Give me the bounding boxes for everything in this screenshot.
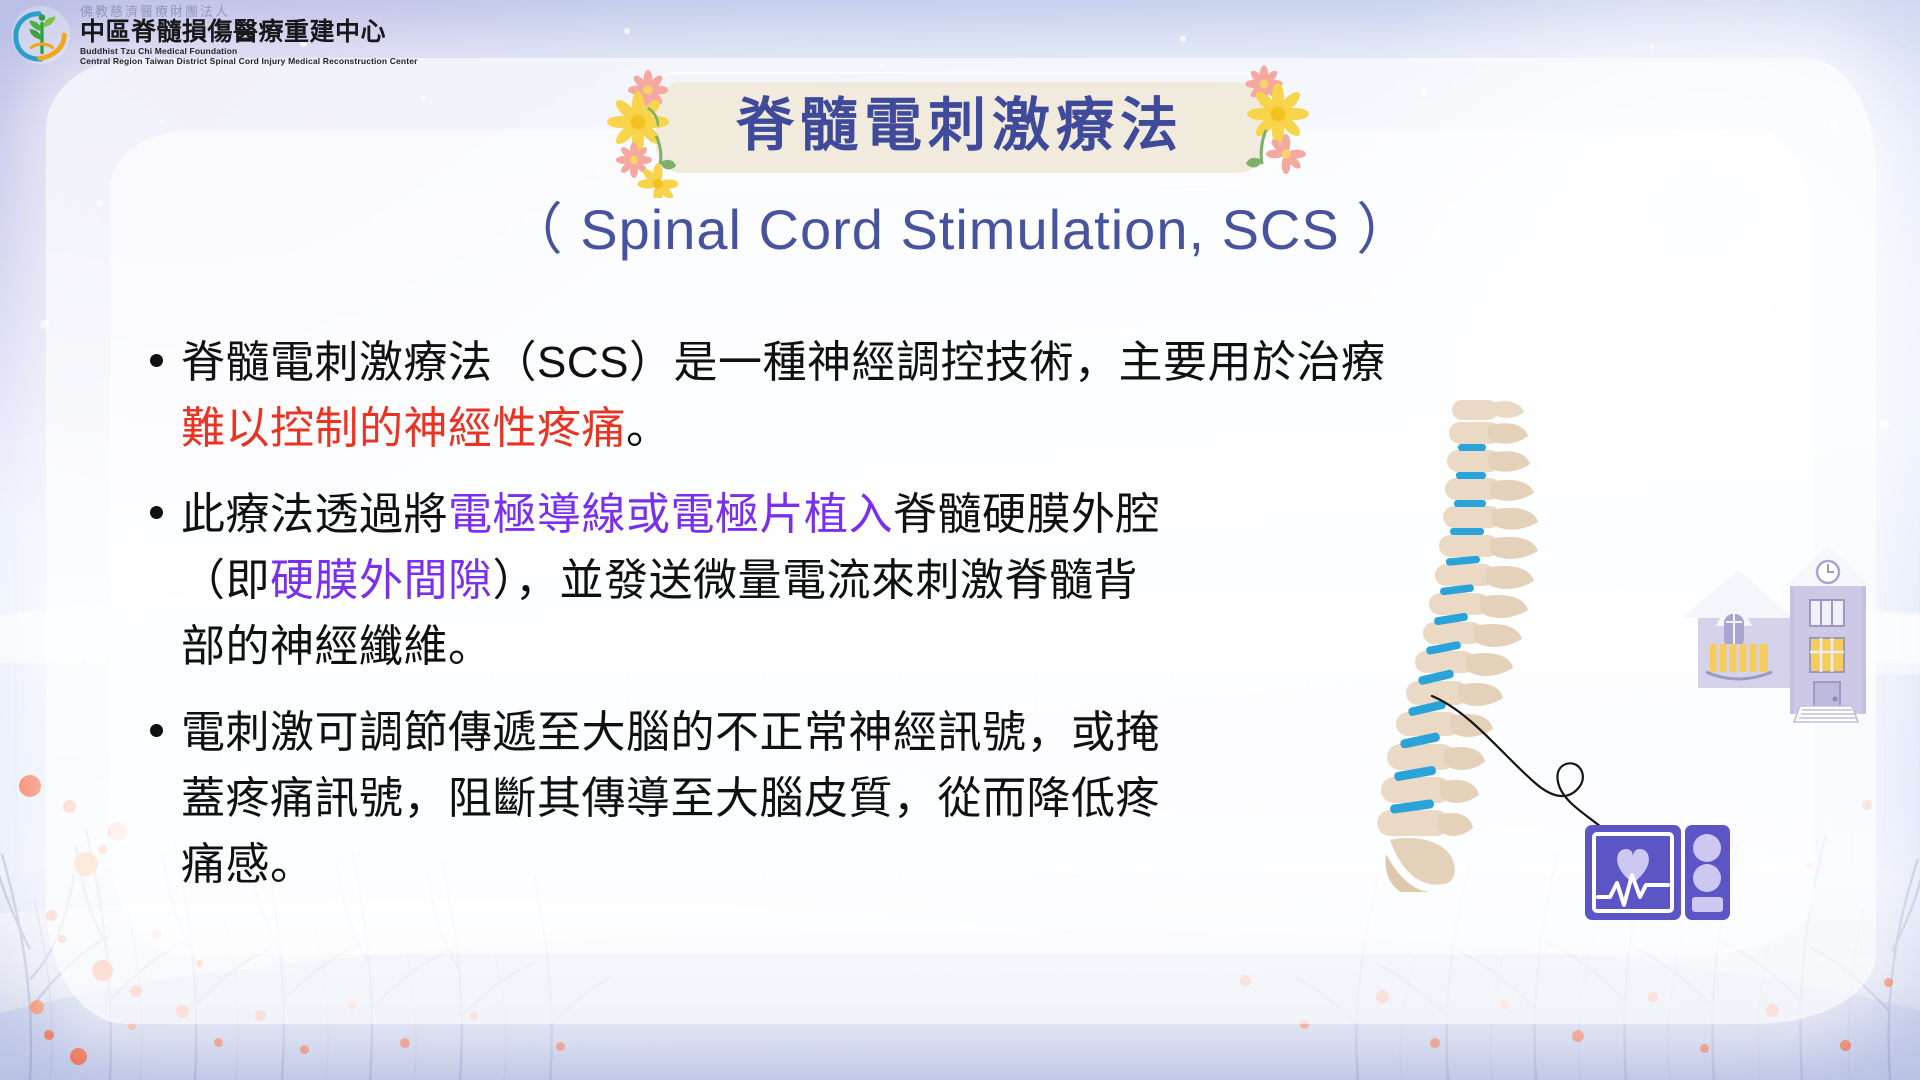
bullet-line: 蓋疼痛訊號，阻斷其傳導至大腦皮質，從而降低疼: [181, 766, 1160, 832]
bullet-line: （即硬膜外間隙），並發送微量電流來刺激脊髓背: [181, 548, 1160, 614]
text-segment-normal: 痛感。: [181, 840, 315, 889]
flowers-right-icon: [1230, 64, 1320, 184]
text-segment-normal: ），並發送微量電流來刺激脊髓背: [493, 556, 1139, 605]
flowers-left-icon: [604, 68, 694, 198]
bullet-text: 電刺激可調節傳遞至大腦的不正常神經訊號，或掩蓋疼痛訊號，阻斷其傳導至大腦皮質，從…: [181, 700, 1160, 898]
bullet-dot-icon: [150, 354, 163, 367]
bullet-line: 痛感。: [181, 832, 1160, 898]
bullet-text: 此療法透過將電極導線或電極片植入脊髓硬膜外腔（即硬膜外間隙），並發送微量電流來刺…: [181, 482, 1160, 680]
text-segment-normal: 。: [626, 404, 671, 453]
text-segment-normal: 此療法透過將: [181, 490, 448, 539]
bullet-dot-icon: [150, 506, 163, 519]
text-segment-purple: 電極導線或電極片植入: [448, 490, 893, 539]
title-banner: 脊髓電刺激療法: [656, 82, 1264, 173]
text-segment-normal: 電刺激可調節傳遞至大腦的不正常神經訊號，或掩: [181, 708, 1160, 757]
bullet-1: 脊髓電刺激療法（SCS）是一種神經調控技術，主要用於治療難以控制的神經性疼痛。: [150, 330, 1400, 462]
logo-org-top: 佛教慈濟醫療財團法人: [80, 5, 418, 18]
bullet-line: 此療法透過將電極導線或電極片植入脊髓硬膜外腔: [181, 482, 1160, 548]
text-segment-red: 難以控制的神經性疼痛: [181, 404, 626, 453]
bullet-line: 電刺激可調節傳遞至大腦的不正常神經訊號，或掩: [181, 700, 1160, 766]
tzu-chi-lotus-logo-icon: [10, 4, 72, 66]
page-title-zh: 脊髓電刺激療法: [736, 96, 1184, 157]
title-block: 脊髓電刺激療法: [0, 82, 1920, 266]
bullet-2: 此療法透過將電極導線或電極片植入脊髓硬膜外腔（即硬膜外間隙），並發送微量電流來刺…: [150, 482, 1400, 680]
bullet-list: 脊髓電刺激療法（SCS）是一種神經調控技術，主要用於治療難以控制的神經性疼痛。此…: [150, 330, 1400, 898]
text-segment-normal: 脊髓硬膜外腔: [893, 490, 1160, 539]
bullet-text: 脊髓電刺激療法（SCS）是一種神經調控技術，主要用於治療難以控制的神經性疼痛。: [181, 330, 1385, 462]
text-segment-normal: 蓋疼痛訊號，阻斷其傳導至大腦皮質，從而降低疼: [181, 774, 1160, 823]
text-segment-normal: （即: [181, 556, 270, 605]
logo-org-en-line2: Central Region Taiwan District Spinal Co…: [80, 57, 418, 66]
bullet-3: 電刺激可調節傳遞至大腦的不正常神經訊號，或掩蓋疼痛訊號，阻斷其傳導至大腦皮質，從…: [150, 700, 1400, 898]
text-segment-normal: 脊髓電刺激療法（SCS）是一種神經調控技術，主要用於治療: [181, 338, 1385, 387]
logo-org-en-line1: Buddhist Tzu Chi Medical Foundation: [80, 47, 418, 56]
logo-org-main: 中區脊髓損傷醫療重建中心: [80, 20, 418, 45]
organization-logo: 佛教慈濟醫療財團法人 中區脊髓損傷醫療重建中心 Buddhist Tzu Chi…: [10, 4, 418, 66]
text-segment-purple: 硬膜外間隙: [270, 556, 493, 605]
slide-canvas: 佛教慈濟醫療財團法人 中區脊髓損傷醫療重建中心 Buddhist Tzu Chi…: [0, 0, 1920, 1080]
text-segment-normal: 部的神經纖維。: [181, 622, 493, 671]
bullet-line: 部的神經纖維。: [181, 614, 1160, 680]
bullet-line: 難以控制的神經性疼痛。: [181, 396, 1385, 462]
bullet-line: 脊髓電刺激療法（SCS）是一種神經調控技術，主要用於治療: [181, 330, 1385, 396]
neurostimulator-device-icon: [1585, 825, 1730, 920]
bullet-dot-icon: [150, 724, 163, 737]
winter-house-illustration: [1676, 540, 1896, 725]
